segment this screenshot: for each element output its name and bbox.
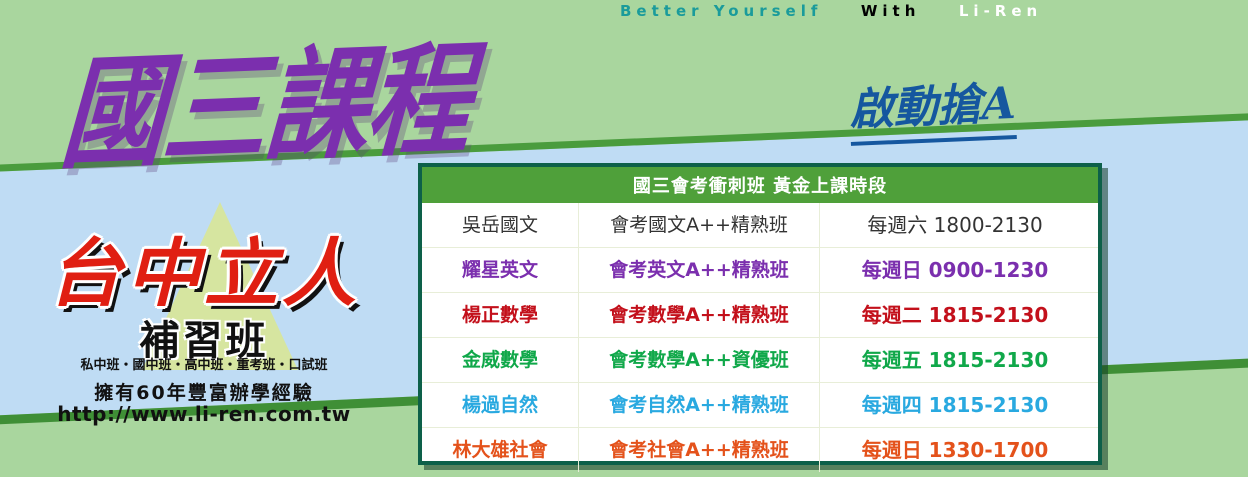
cell-teacher: 耀星英文 (422, 248, 579, 292)
cell-course: 會考國文A++精熟班 (579, 203, 820, 247)
logo-experience-text: 擁有60年豐富辦學經驗 (24, 378, 384, 405)
cell-course: 會考英文A++精熟班 (579, 248, 820, 292)
schedule-table-body: 吳岳國文會考國文A++精熟班每週六 1800-2130耀星英文會考英文A++精熟… (422, 203, 1098, 472)
cell-teacher: 金威數學 (422, 338, 579, 382)
cell-course: 會考數學A++精熟班 (579, 293, 820, 337)
cell-course: 會考社會A++精熟班 (579, 428, 820, 472)
logo-name: 台中立人 (24, 214, 384, 321)
schedule-table-header: 國三會考衝刺班 黃金上課時段 (422, 167, 1098, 203)
tagline-part-two: With (861, 2, 921, 20)
page-subtitle: 啟動搶A (848, 67, 1017, 146)
table-row: 林大雄社會會考社會A++精熟班每週日 1330-1700 (422, 428, 1098, 472)
cell-teacher: 楊過自然 (422, 383, 579, 427)
table-row: 吳岳國文會考國文A++精熟班每週六 1800-2130 (422, 203, 1098, 248)
schedule-table: 國三會考衝刺班 黃金上課時段 吳岳國文會考國文A++精熟班每週六 1800-21… (418, 163, 1102, 465)
cell-time: 每週五 1815-2130 (820, 338, 1098, 382)
cell-time: 每週四 1815-2130 (820, 383, 1098, 427)
tagline-part-one: Better Yourself (620, 2, 822, 20)
table-row: 耀星英文會考英文A++精熟班每週日 0900-1230 (422, 248, 1098, 293)
table-row: 金威數學會考數學A++資優班每週五 1815-2130 (422, 338, 1098, 383)
table-row: 楊過自然會考自然A++精熟班每週四 1815-2130 (422, 383, 1098, 428)
cell-course: 會考自然A++精熟班 (579, 383, 820, 427)
page-title: 國三課程 (56, 0, 475, 191)
cell-time: 每週二 1815-2130 (820, 293, 1098, 337)
brand-logo: 台中立人 補習班 私中班・國中班・高中班・重考班・口試班 擁有60年豐富辦學經驗… (18, 196, 388, 426)
table-row: 楊正數學會考數學A++精熟班每週二 1815-2130 (422, 293, 1098, 338)
cell-teacher: 楊正數學 (422, 293, 579, 337)
tagline: Better Yourself With Li-Ren (620, 2, 1240, 24)
logo-program-tags: 私中班・國中班・高中班・重考班・口試班 (24, 354, 384, 373)
cell-time: 每週日 0900-1230 (820, 248, 1098, 292)
cell-course: 會考數學A++資優班 (579, 338, 820, 382)
cell-time: 每週六 1800-2130 (820, 203, 1098, 247)
cell-teacher: 林大雄社會 (422, 428, 579, 472)
cell-time: 每週日 1330-1700 (820, 428, 1098, 472)
poster-canvas: Better Yourself With Li-Ren 國三課程 啟動搶A 台中… (0, 0, 1248, 477)
cell-teacher: 吳岳國文 (422, 203, 579, 247)
tagline-part-three: Li-Ren (959, 2, 1042, 20)
logo-website-url[interactable]: http://www.li-ren.com.tw (24, 402, 384, 426)
